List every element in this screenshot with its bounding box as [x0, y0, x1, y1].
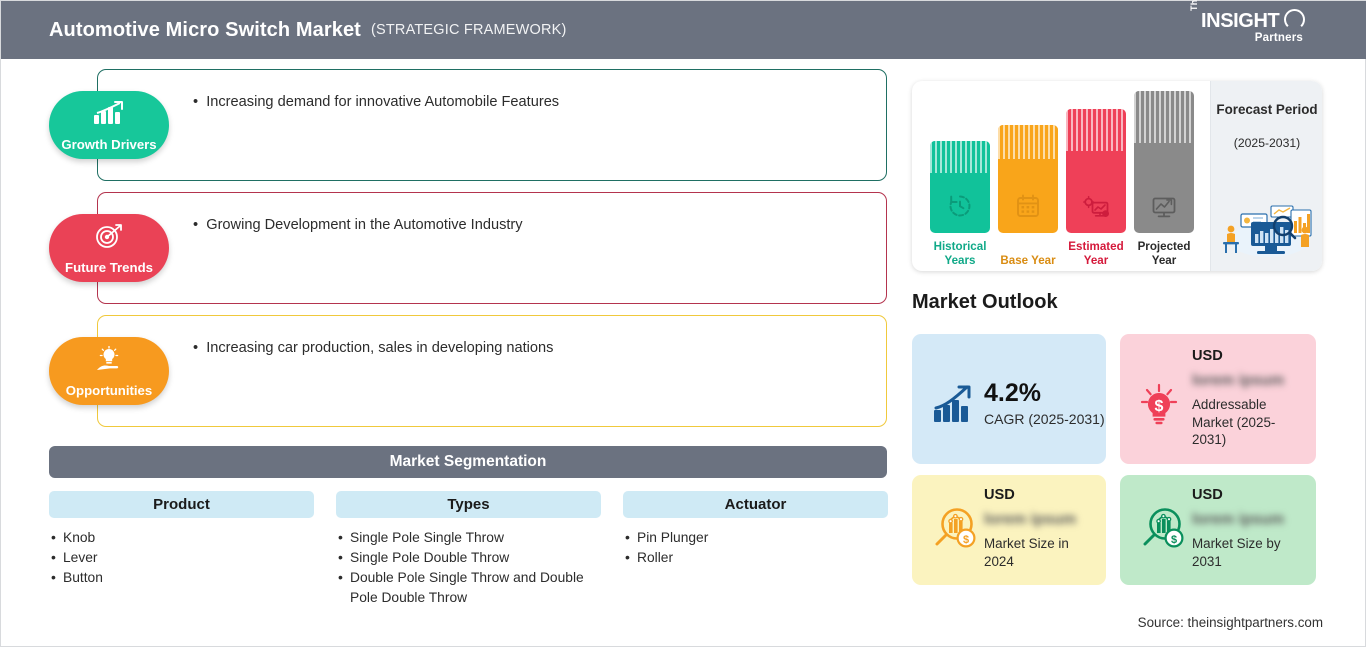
analytics-team-illustration — [1217, 196, 1317, 263]
segmentation-header-label: Product — [153, 496, 210, 513]
cagr-caption: CAGR (2025-2031) — [984, 411, 1105, 427]
forecast-bar-caption: Historical Years — [922, 240, 998, 267]
driver-box-growth-drivers: • Increasing demand for innovative Autom… — [97, 69, 887, 181]
market-segmentation-title: Market Segmentation — [390, 453, 547, 471]
forecast-period-range: (2025-2031) — [1211, 136, 1322, 150]
segmentation-list: Single Pole Single Throw Single Pole Dou… — [336, 528, 601, 608]
clock-history-icon — [947, 193, 973, 224]
logo-the-text: The — [1189, 0, 1199, 11]
page-subtitle: (STRATEGIC FRAMEWORK) — [371, 22, 567, 38]
segmentation-header: Types — [336, 491, 601, 518]
list-item: Knob — [49, 528, 314, 548]
badge-future-trends[interactable]: Future Trends — [49, 214, 169, 282]
projection-monitor-icon — [1150, 195, 1178, 224]
segmentation-list: Knob Lever Button — [49, 528, 314, 588]
bar-chart-growth-icon — [92, 100, 126, 131]
segmentation-header: Actuator — [623, 491, 888, 518]
forecast-bar-shape — [998, 125, 1058, 233]
svg-text:$: $ — [1155, 398, 1164, 415]
badge-label: Opportunities — [66, 383, 152, 398]
svg-text:$: $ — [963, 534, 969, 546]
forecast-bar-shape — [930, 141, 990, 233]
left-column: • Increasing demand for innovative Autom… — [1, 59, 906, 647]
driver-box-opportunities: • Increasing car production, sales in de… — [97, 315, 887, 427]
forecast-bar-caption: Estimated Year — [1058, 240, 1134, 267]
driver-box-future-trends: • Growing Development in the Automotive … — [97, 192, 887, 304]
list-item: Lever — [49, 548, 314, 568]
forecast-bar-caption: Projected Year — [1126, 240, 1202, 267]
segmentation-header-label: Types — [447, 496, 489, 513]
market-segmentation-title-bar: Market Segmentation — [49, 446, 887, 478]
card-amount-placeholder: lorem ipsum — [984, 511, 1076, 529]
segmentation-header: Product — [49, 491, 314, 518]
card-currency-label: USD — [1192, 487, 1223, 503]
svg-text:$: $ — [1171, 534, 1177, 546]
logo-arc-icon — [1284, 9, 1305, 30]
logo-partners-text: Partners — [1255, 32, 1303, 44]
magnifier-chart-dollar-icon: $ — [1138, 505, 1186, 558]
bar-chart-arrow-icon — [932, 384, 976, 431]
forecast-period-title: Forecast Period — [1211, 101, 1322, 119]
forecast-period-panel: Forecast Period (2025-2031) — [1210, 81, 1322, 271]
list-item: Double Pole Single Throw and Double Pole… — [336, 568, 601, 608]
forecast-bar-caption: Base Year — [990, 254, 1066, 268]
outlook-card-addressable-market: $ USD lorem ipsum Addressable Market (20… — [1120, 334, 1316, 464]
badge-opportunities[interactable]: Opportunities — [49, 337, 169, 405]
card-amount-placeholder: lorem ipsum — [1192, 372, 1284, 390]
page-header: Automotive Micro Switch Market (STRATEGI… — [1, 1, 1366, 59]
magnifier-chart-dollar-icon: $ — [930, 505, 978, 558]
list-item: Single Pole Single Throw — [336, 528, 601, 548]
badge-growth-drivers[interactable]: Growth Drivers — [49, 91, 169, 159]
right-column: 2021-2023 Historical Years — [906, 59, 1366, 647]
list-item: Button — [49, 568, 314, 588]
list-item: Roller — [623, 548, 888, 568]
segmentation-column-types: Types Single Pole Single Throw Single Po… — [336, 491, 601, 608]
lightbulb-hand-icon — [92, 346, 126, 377]
card-currency-label: USD — [984, 487, 1015, 503]
segmentation-column-actuator: Actuator Pin Plunger Roller — [623, 491, 888, 568]
estimate-chart-icon — [1082, 195, 1110, 224]
page-title: Automotive Micro Switch Market — [49, 19, 361, 42]
market-outlook-title: Market Outlook — [912, 291, 1058, 314]
card-caption: Market Size in 2024 — [984, 535, 1094, 570]
outlook-card-market-size-2031: $ USD lorem ipsum Market Size by 2031 — [1120, 475, 1316, 585]
target-arrow-icon — [92, 223, 126, 254]
infographic-page: Automotive Micro Switch Market (STRATEGI… — [0, 0, 1366, 647]
cagr-value: 4.2% — [984, 379, 1041, 408]
forecast-bar-shape — [1066, 109, 1126, 233]
card-caption: Addressable Market (2025-2031) — [1192, 396, 1306, 449]
list-item: Pin Plunger — [623, 528, 888, 548]
card-amount-placeholder: lorem ipsum — [1192, 511, 1284, 529]
segmentation-header-label: Actuator — [725, 496, 787, 513]
badge-label: Future Trends — [65, 260, 153, 275]
driver-bullet-text: • Growing Development in the Automotive … — [193, 215, 523, 235]
forecast-bars: 2021-2023 Historical Years — [912, 81, 1207, 271]
driver-bullet-text: • Increasing car production, sales in de… — [193, 338, 553, 358]
segmentation-list: Pin Plunger Roller — [623, 528, 888, 568]
outlook-card-cagr: 4.2% CAGR (2025-2031) — [912, 334, 1106, 464]
card-currency-label: USD — [1192, 348, 1223, 364]
source-attribution: Source: theinsightpartners.com — [1138, 615, 1323, 630]
outlook-card-market-size-2024: $ USD lorem ipsum Market Size in 2024 — [912, 475, 1106, 585]
badge-label: Growth Drivers — [61, 137, 156, 152]
forecast-bar-shape — [1134, 91, 1194, 233]
driver-bullet-text: • Increasing demand for innovative Autom… — [193, 92, 559, 112]
forecast-chart-card: 2021-2023 Historical Years — [912, 81, 1322, 271]
bulb-dollar-icon: $ — [1138, 382, 1180, 433]
calendar-icon — [1015, 193, 1041, 224]
list-item: Single Pole Double Throw — [336, 548, 601, 568]
card-caption: Market Size by 2031 — [1192, 535, 1302, 570]
logo-insight-text: INSIGHT — [1201, 10, 1279, 33]
insight-partners-logo: The INSIGHT Partners — [1189, 9, 1309, 51]
segmentation-column-product: Product Knob Lever Button — [49, 491, 314, 588]
